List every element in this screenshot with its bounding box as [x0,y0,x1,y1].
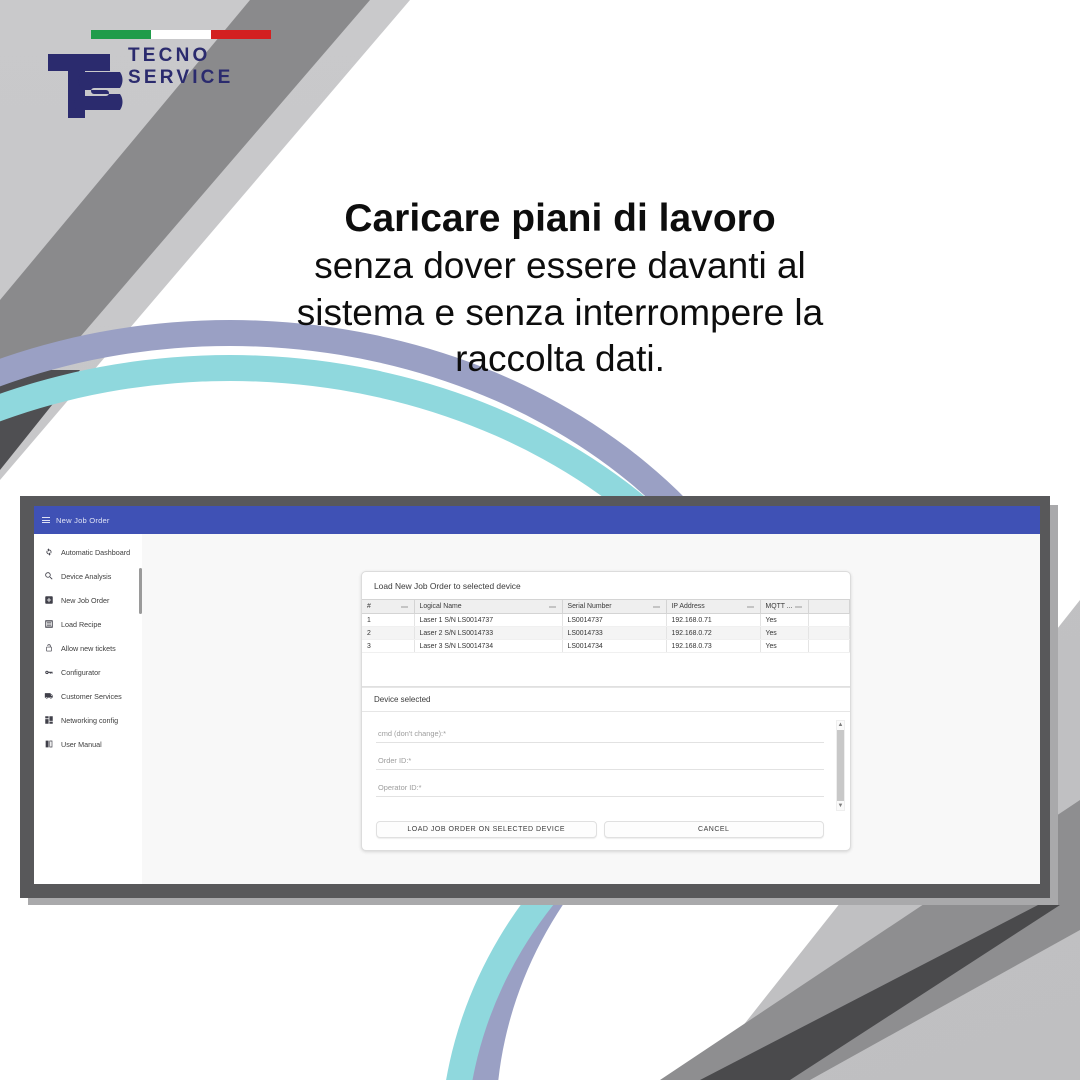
italian-flag-icon [91,30,271,39]
cell-mqtt: Yes [760,627,808,640]
sidebar-item-label: Device Analysis [61,572,111,581]
job-order-form: cmd (don't change):* Order ID:* Operator… [362,712,850,817]
column-header-spacer [808,600,850,614]
sidebar-header-label: New Job Order [56,516,110,525]
cell-spacer [808,640,850,653]
sidebar-item-allow-new-tickets[interactable]: Allow new tickets [34,636,142,660]
table-row[interactable]: 1 Laser 1 S/N LS0014737 LS0014737 192.16… [362,614,850,627]
dialog-actions: LOAD JOB ORDER ON SELECTED DEVICE CANCEL [362,817,850,850]
list-box-icon [43,619,54,630]
table-header-row: # Logical Name Serial Number [362,600,850,614]
search-icon [43,571,54,582]
cell-logical-name: Laser 1 S/N LS0014737 [414,614,562,627]
dialog-title: Load New Job Order to selected device [362,572,850,599]
order-id-field[interactable]: Order ID:* [376,753,824,770]
sidebar-item-customer-services[interactable]: Customer Services [34,684,142,708]
device-selected-label: Device selected [362,687,850,712]
lock-icon [43,643,54,654]
add-box-icon [43,595,54,606]
table-empty-area [362,653,850,687]
sidebar-item-label: Configurator [61,668,101,677]
cell-index: 3 [362,640,414,653]
sidebar-item-label: User Manual [61,740,102,749]
sidebar-item-load-recipe[interactable]: Load Recipe [34,612,142,636]
content-body: Load New Job Order to selected device # … [142,534,1040,884]
key-icon [43,667,54,678]
cell-logical-name: Laser 3 S/N LS0014734 [414,640,562,653]
sidebar: New Job Order Automatic Dashboard Device [34,506,142,884]
cancel-button[interactable]: CANCEL [604,821,825,838]
cell-spacer [808,627,850,640]
sidebar-item-label: Customer Services [61,692,122,701]
autorenew-icon [43,547,54,558]
column-header-serial-number[interactable]: Serial Number [562,600,666,614]
app-toolbar [142,506,1040,534]
headline: Caricare piani di lavoro senza dover ess… [150,194,970,383]
headline-line-1: Caricare piani di lavoro [150,194,970,243]
column-header-mqtt[interactable]: MQTT ... [760,600,808,614]
app-window: New Job Order Automatic Dashboard Device [34,506,1040,884]
device-table: # Logical Name Serial Number [362,599,850,653]
sidebar-item-label: New Job Order [61,596,109,605]
dashboard-grid-icon [43,715,54,726]
headline-line-3: sistema e senza interrompere la [150,290,970,337]
sidebar-item-networking-config[interactable]: Networking config [34,708,142,732]
poster-canvas: TECNO SERVICE Caricare piani di lavoro s… [0,0,1080,1080]
brand-wordmark: TECNO SERVICE [128,45,288,89]
cell-spacer [808,614,850,627]
sidebar-item-automatic-dashboard[interactable]: Automatic Dashboard [34,540,142,564]
sidebar-header[interactable]: New Job Order [34,506,142,534]
cell-logical-name: Laser 2 S/N LS0014733 [414,627,562,640]
sidebar-item-device-analysis[interactable]: Device Analysis [34,564,142,588]
cell-serial-number: LS0014733 [562,627,666,640]
sidebar-item-label: Load Recipe [61,620,101,629]
cell-ip-address: 192.168.0.73 [666,640,760,653]
headline-line-4: raccolta dati. [150,336,970,383]
truck-icon [43,691,54,702]
column-header-logical-name[interactable]: Logical Name [414,600,562,614]
load-job-order-button[interactable]: LOAD JOB ORDER ON SELECTED DEVICE [376,821,597,838]
cell-ip-address: 192.168.0.71 [666,614,760,627]
cell-index: 1 [362,614,414,627]
headline-line-2: senza dover essere davanti al [150,243,970,290]
load-job-order-dialog: Load New Job Order to selected device # … [361,571,851,851]
sidebar-item-label: Allow new tickets [61,644,116,653]
sidebar-item-configurator[interactable]: Configurator [34,660,142,684]
cell-serial-number: LS0014734 [562,640,666,653]
cell-mqtt: Yes [760,614,808,627]
app-window-frame: New Job Order Automatic Dashboard Device [20,496,1050,898]
sort-indicator-icon [549,606,556,607]
sidebar-item-label: Networking config [61,716,118,725]
scroll-down-arrow-icon[interactable]: ▼ [838,802,844,810]
cmd-field[interactable]: cmd (don't change):* [376,726,824,743]
column-header-ip-address[interactable]: IP Address [666,600,760,614]
cell-serial-number: LS0014737 [562,614,666,627]
cell-mqtt: Yes [760,640,808,653]
sidebar-item-label: Automatic Dashboard [61,548,130,557]
hamburger-icon[interactable] [42,517,50,523]
operator-id-field[interactable]: Operator ID:* [376,780,824,797]
sort-indicator-icon [795,606,802,607]
sidebar-item-user-manual[interactable]: User Manual [34,732,142,756]
column-header-index[interactable]: # [362,600,414,614]
sort-indicator-icon [401,606,408,607]
scrollbar-thumb[interactable] [837,730,844,801]
cell-index: 2 [362,627,414,640]
table-row[interactable]: 2 Laser 2 S/N LS0014733 LS0014733 192.16… [362,627,850,640]
brand-logo: TECNO SERVICE [48,30,288,120]
scroll-up-arrow-icon[interactable]: ▲ [838,721,844,729]
table-row[interactable]: 3 Laser 3 S/N LS0014734 LS0014734 192.16… [362,640,850,653]
main-content: Load New Job Order to selected device # … [142,506,1040,884]
cell-ip-address: 192.168.0.72 [666,627,760,640]
book-icon [43,739,54,750]
sort-indicator-icon [747,606,754,607]
sidebar-nav: Automatic Dashboard Device Analysis New … [34,534,142,756]
sort-indicator-icon [653,606,660,607]
form-scrollbar[interactable]: ▲ ▼ [836,720,845,811]
sidebar-item-new-job-order[interactable]: New Job Order [34,588,142,612]
